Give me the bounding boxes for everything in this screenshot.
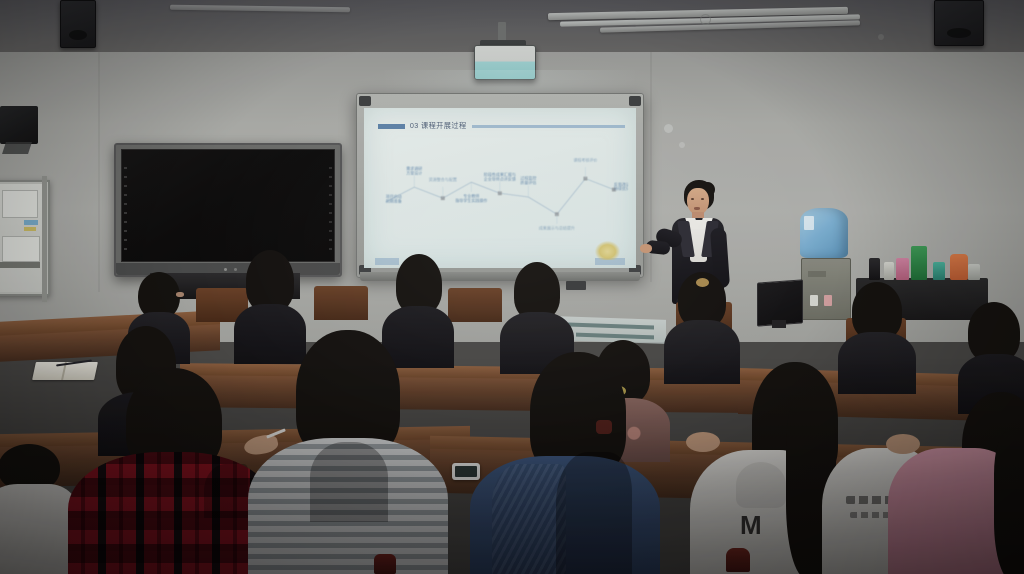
ceiling-sensor-icon: [878, 34, 884, 40]
lens-flare-dot-1: [664, 124, 673, 133]
pink-container: [896, 258, 909, 280]
green-bottle: [911, 246, 927, 280]
projector: [474, 45, 536, 80]
wall-speaker-right: [934, 0, 984, 46]
svg-text:资源整合与配置: 资源整合与配置: [429, 177, 457, 182]
student-14-hair-side: [994, 432, 1024, 574]
presenter-face: [687, 188, 709, 215]
student-14-hand: [886, 434, 920, 454]
presenter-hand-left: [640, 244, 652, 253]
monitor-stand: [772, 320, 786, 328]
orange-container: [950, 254, 968, 280]
svg-text:课程考核评价: 课程考核评价: [573, 157, 597, 162]
display-power-icon[interactable]: [224, 268, 227, 271]
projection-screen[interactable]: 03 课程开展过程 项目启动前期准备需求调研方案设计资源整合与配置专业教师指导学…: [356, 93, 644, 278]
small-jar: [968, 264, 980, 280]
slide-title: 03 课程开展过程: [410, 121, 467, 131]
chair-back-2[interactable]: [314, 286, 368, 320]
board-note-1: [2, 190, 38, 218]
board-tag-yellow: [24, 227, 36, 231]
water-jug: [800, 208, 848, 258]
board-rail: [42, 176, 47, 302]
classroom-photo: 03 课程开展过程 项目启动前期准备需求调研方案设计资源整合与配置专业教师指导学…: [0, 0, 1024, 574]
board-note-2: [2, 236, 40, 262]
student-11-hair-shadow: [556, 452, 632, 574]
student-5-hair-clip-icon: [696, 278, 709, 287]
ceiling-fitting: [700, 14, 711, 25]
slide-title-accent-right: [472, 125, 626, 129]
student-11-denim-texture: [492, 464, 566, 574]
student-3-hair: [396, 254, 442, 314]
dispenser-tap-cold[interactable]: [810, 295, 818, 306]
display-screen: [121, 149, 335, 262]
student-11: [468, 352, 668, 574]
student-2-hair: [246, 250, 294, 312]
student-9: [248, 330, 452, 574]
svg-text:过程监控质量评估: 过程监控质量评估: [520, 176, 536, 185]
display-side-buttons[interactable]: [124, 167, 127, 255]
white-cup: [884, 262, 894, 280]
dispenser-tap-hot[interactable]: [824, 295, 832, 306]
presenter-eye-right: [701, 198, 704, 200]
student-13-hand: [686, 432, 720, 452]
svg-text:需求调研方案设计: 需求调研方案设计: [406, 166, 422, 175]
slide: 03 课程开展过程 项目启动前期准备需求调研方案设计资源整合与配置专业教师指导学…: [364, 108, 636, 268]
board-marker-tray: [0, 262, 40, 268]
student-8-hair-shadow: [204, 464, 248, 518]
desk-object-mid: [596, 420, 612, 434]
student-7-hair: [968, 302, 1020, 362]
svg-text:专业教师指导学生实践操作: 专业教师指导学生实践操作: [455, 194, 487, 203]
student-9-hair-shadow: [310, 442, 388, 522]
wall-bracket-arm: [2, 142, 32, 154]
board-tag-blue: [24, 220, 38, 225]
screen-surface: 03 课程开展过程 项目启动前期准备需求调研方案设计资源整合与配置专业教师指导学…: [364, 108, 636, 268]
water-jug-label: [804, 216, 814, 230]
svg-text:成果展示与总结提升: 成果展示与总结提升: [539, 226, 575, 231]
student-1-glasses-icon: [176, 292, 184, 297]
student-13-hoodie-text: M: [740, 512, 762, 538]
display-side-buttons-right[interactable]: [329, 167, 332, 255]
svg-text:反思改进持续优化: 反思改进持续优化: [614, 182, 628, 191]
student-14: [888, 392, 1024, 574]
slide-logo: [595, 241, 619, 260]
slide-title-row: 03 课程开展过程: [378, 119, 626, 133]
presenter-mouth: [694, 207, 700, 210]
svg-text:项目启动前期准备: 项目启动前期准备: [386, 194, 402, 203]
desk-object-left: [374, 554, 396, 574]
desk-object-right: [726, 548, 750, 572]
slide-title-accent-left: [378, 124, 405, 129]
wall-seam-left: [98, 52, 100, 292]
dark-bottle: [869, 258, 880, 280]
presenter-eye-left: [691, 198, 694, 200]
dispenser-badge: [808, 271, 826, 277]
student-13-hood: [736, 462, 786, 508]
svg-text:阶段性成果汇报与企业导师点评反馈: 阶段性成果汇报与企业导师点评反馈: [484, 172, 516, 181]
screen-corner-tr: [629, 96, 641, 106]
screen-corner-tl: [359, 96, 371, 106]
projector-mount: [498, 22, 506, 42]
lens-flare-dot-2: [679, 142, 685, 148]
teal-cup: [933, 262, 945, 280]
slide-line-chart: 项目启动前期准备需求调研方案设计资源整合与配置专业教师指导学生实践操作阶段性成果…: [372, 135, 628, 250]
wall-speaker-left: [60, 0, 96, 48]
wall-bracket-device: [0, 106, 38, 144]
